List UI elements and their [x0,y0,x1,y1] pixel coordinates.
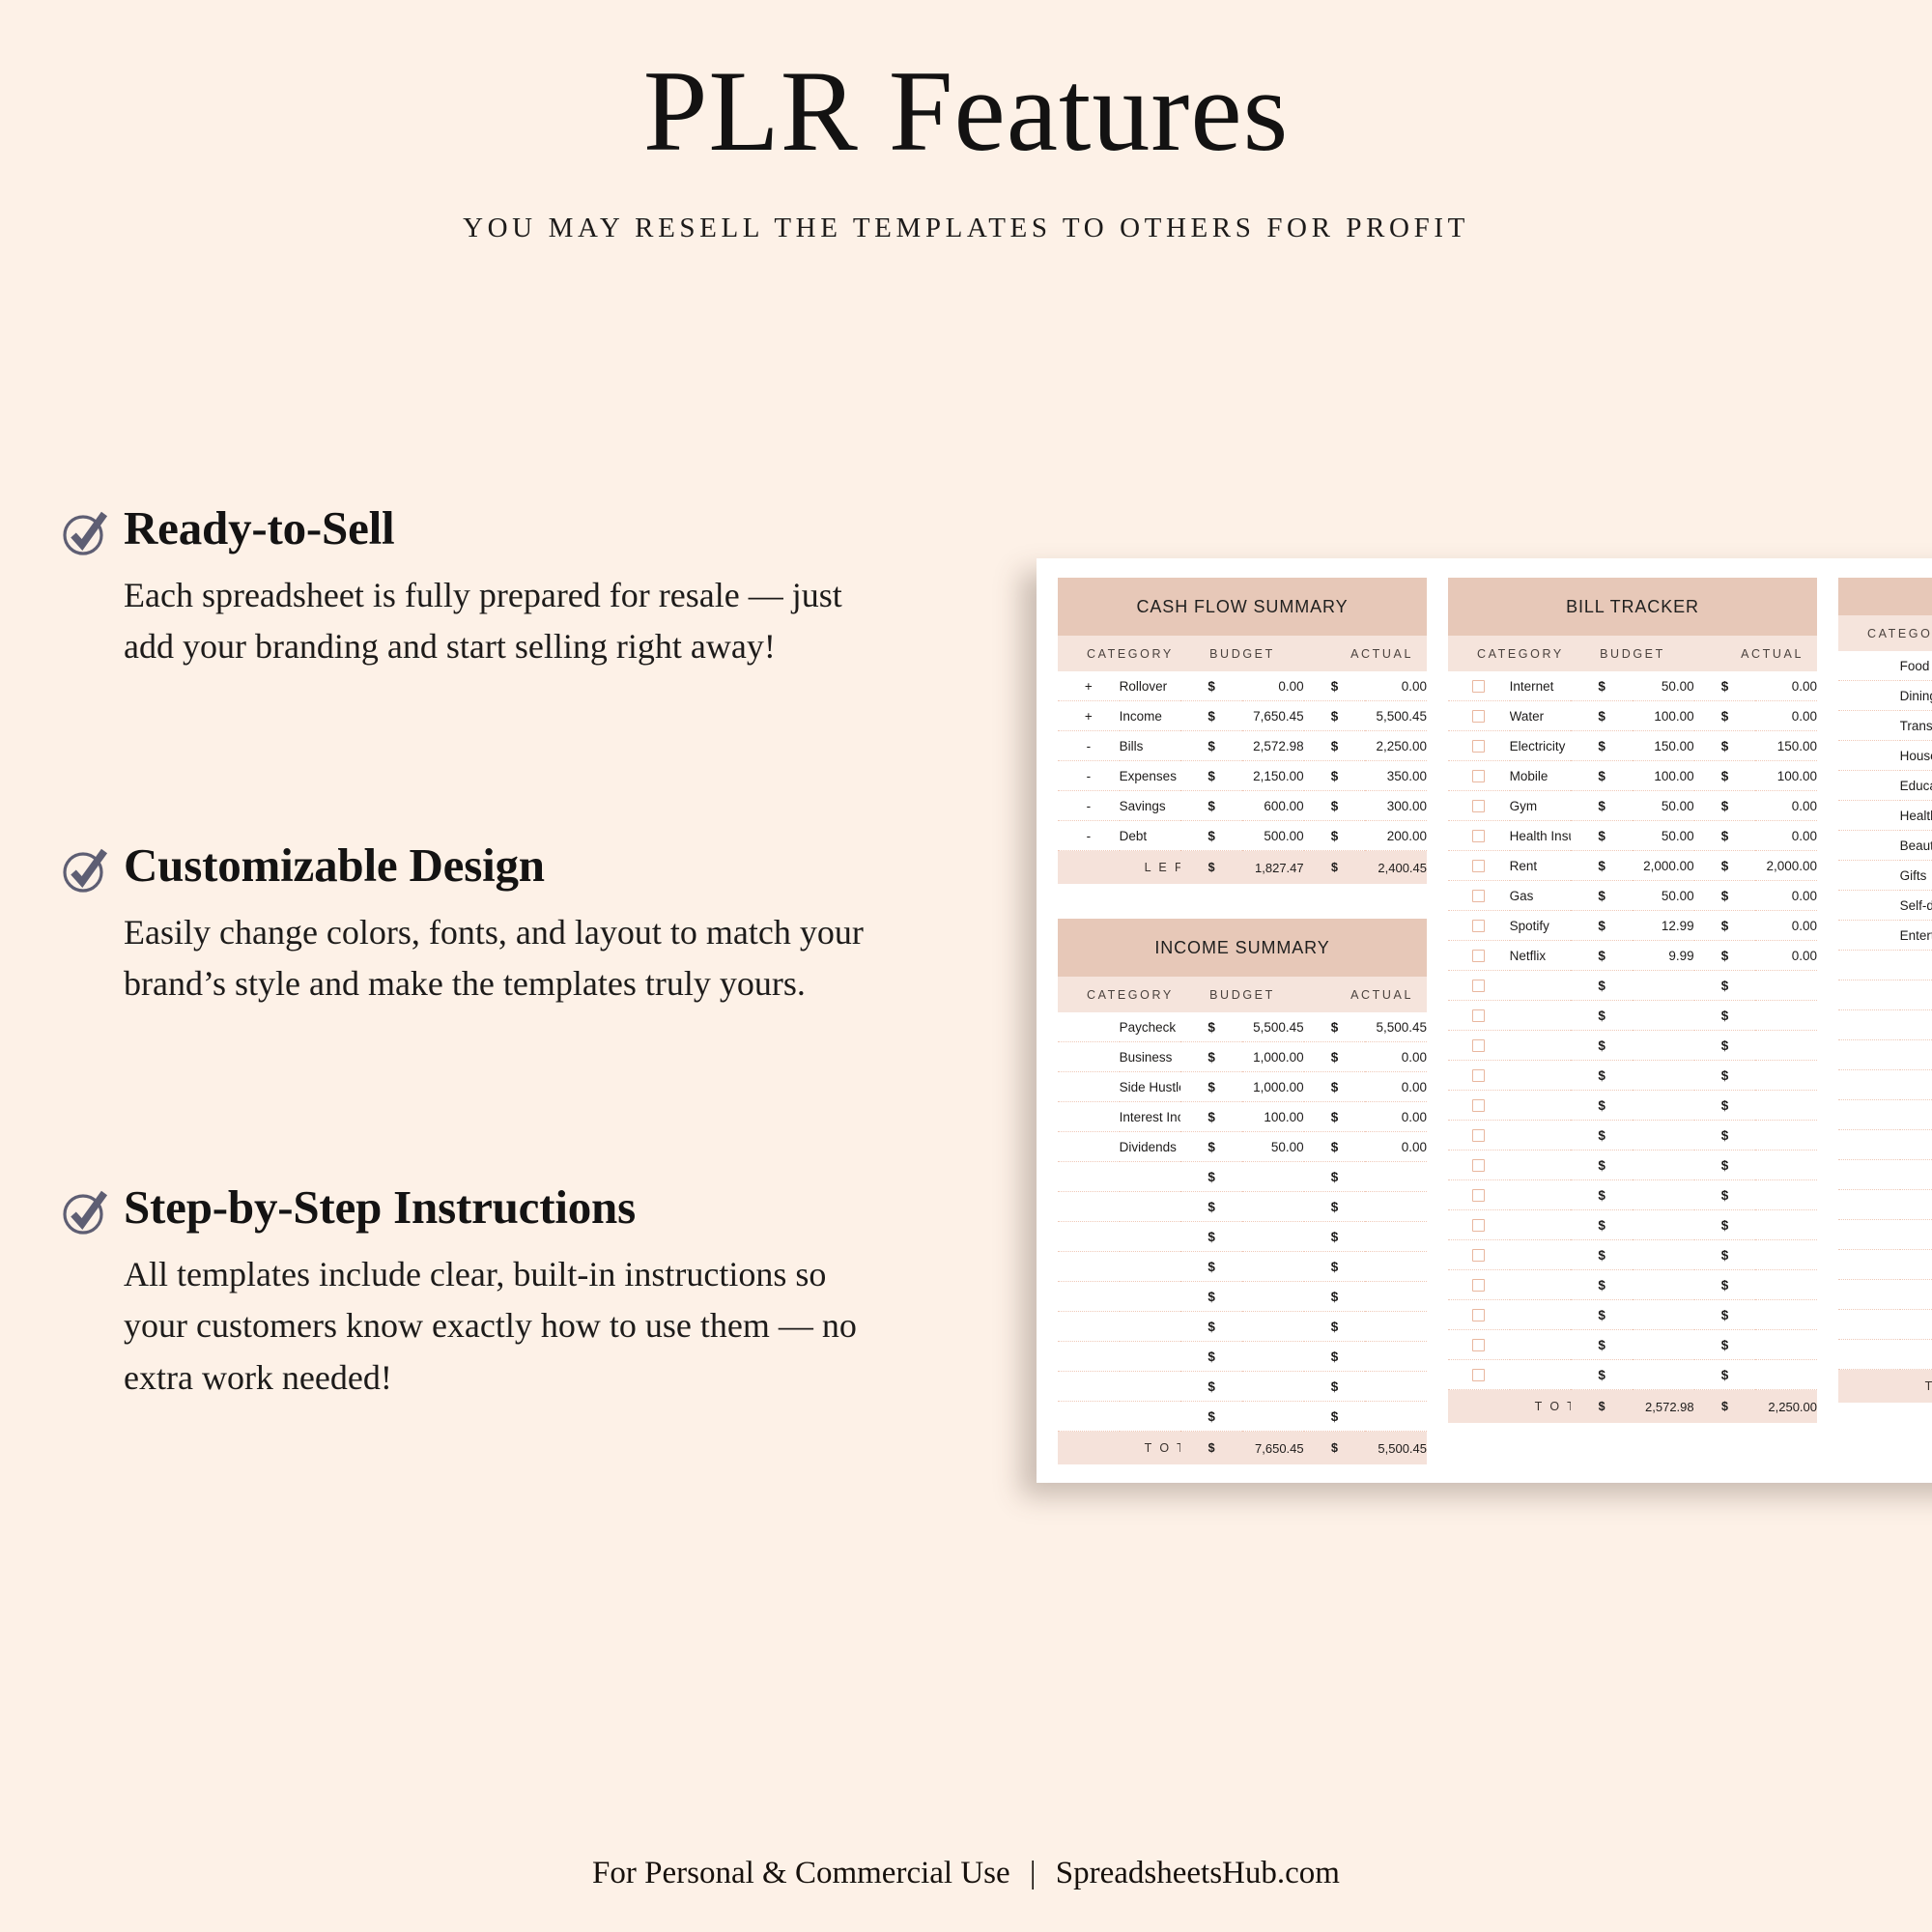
budget-currency-symbol: $ [1180,1162,1242,1192]
budget-value[interactable] [1633,1300,1694,1330]
actual-value[interactable] [1365,1162,1427,1192]
budget-currency-symbol: $ [1180,1072,1242,1102]
actual-value[interactable]: 300.00 [1365,791,1427,821]
row-category-label[interactable] [1120,1402,1181,1432]
row-category-label[interactable]: Rollover [1120,671,1181,701]
budget-value[interactable]: 2,150.00 [1242,761,1304,791]
row-category-label[interactable] [1510,1151,1572,1180]
budget-value[interactable]: 50.00 [1633,821,1694,851]
checkbox-icon[interactable] [1472,1099,1485,1112]
row-sign: - [1058,821,1120,851]
row-spacer [1838,1220,1900,1250]
actual-currency-symbol: $ [1304,1402,1366,1432]
row-category-label[interactable] [1120,1342,1181,1372]
budget-value[interactable]: 150.00 [1633,731,1694,761]
table-row: $$ [1838,1160,1932,1190]
column-header-category: CATEGORY [1058,977,1180,1012]
row-checkbox[interactable] [1448,1360,1510,1390]
budget-value[interactable] [1633,1061,1694,1091]
row-sign: - [1058,761,1120,791]
budget-currency-symbol: $ [1180,1342,1242,1372]
actual-value[interactable] [1365,1342,1427,1372]
actual-currency-symbol: $ [1304,731,1366,761]
row-spacer [1058,1372,1120,1402]
checkbox-icon[interactable] [1472,1009,1485,1022]
actual-value[interactable]: 0.00 [1365,1042,1427,1072]
budget-value[interactable]: 600.00 [1242,791,1304,821]
budget-currency-symbol: $ [1180,671,1242,701]
budget-currency-symbol: $ [1571,701,1633,731]
row-category-label[interactable]: Bills [1120,731,1181,761]
column-header-budget: BUDGET [1180,977,1303,1012]
row-category-label[interactable] [1900,1040,1932,1070]
checkbox-icon[interactable] [1472,920,1485,932]
table-row: $$ [1058,1342,1427,1372]
actual-currency-symbol: $ [1694,881,1756,911]
row-spacer [1838,771,1900,801]
row-category-label[interactable] [1900,1130,1932,1160]
budget-value[interactable]: 0.00 [1242,671,1304,701]
budget-currency-symbol: $ [1180,701,1242,731]
budget-currency-symbol: $ [1571,671,1633,701]
actual-value[interactable] [1755,1001,1817,1031]
checkbox-icon[interactable] [1472,860,1485,872]
row-checkbox[interactable] [1448,1270,1510,1300]
row-spacer [1058,1192,1120,1222]
row-category-label[interactable] [1510,1360,1572,1390]
actual-value[interactable] [1365,1372,1427,1402]
budget-value[interactable] [1242,1372,1304,1402]
row-category-label[interactable]: Savings [1120,791,1181,821]
actual-value[interactable]: 0.00 [1755,701,1817,731]
table-row: $$ [1838,1340,1932,1370]
actual-value[interactable]: 2,250.00 [1365,731,1427,761]
row-spacer [1838,681,1900,711]
checkbox-icon[interactable] [1472,770,1485,782]
row-category-label[interactable]: Health [1900,801,1932,831]
row-checkbox[interactable] [1448,821,1510,851]
budget-value[interactable]: 50.00 [1633,671,1694,701]
budget-value[interactable]: 5,500.45 [1242,1012,1304,1042]
budget-value[interactable] [1633,1031,1694,1061]
budget-value[interactable]: 2,572.98 [1242,731,1304,761]
feature-item-step-by-step-instructions: Step-by-Step Instructions All templates … [60,1181,876,1404]
table-row: $$ [1838,1310,1932,1340]
actual-value[interactable] [1365,1252,1427,1282]
row-category-label[interactable]: Dining Out [1900,681,1932,711]
checkbox-icon[interactable] [1472,1129,1485,1142]
row-category-label[interactable] [1510,1270,1572,1300]
row-category-label[interactable] [1120,1312,1181,1342]
row-category-label[interactable] [1900,1100,1932,1130]
row-category-label[interactable]: Dividends [1120,1132,1181,1162]
budget-value[interactable]: 12.99 [1633,911,1694,941]
actual-currency-symbol: $ [1694,1031,1756,1061]
actual-value[interactable] [1755,1300,1817,1330]
actual-currency-symbol: $ [1694,1061,1756,1091]
actual-value[interactable] [1755,1180,1817,1210]
feature-item-customizable-design: Customizable Design Easily change colors… [60,839,876,1010]
row-category-label[interactable]: Gas [1510,881,1572,911]
total-actual-currency-symbol: $ [1304,851,1366,885]
actual-value[interactable]: 0.00 [1755,881,1817,911]
features-list: Ready-to-Sell Each spreadsheet is fully … [60,502,876,1404]
row-category-label[interactable] [1510,1330,1572,1360]
row-category-label[interactable] [1900,1220,1932,1250]
row-category-label[interactable]: Internet [1510,671,1572,701]
checkbox-icon[interactable] [1472,1249,1485,1262]
table-title: CASH FLOW SUMMARY [1058,578,1427,636]
row-category-label[interactable]: Business [1120,1042,1181,1072]
row-category-label[interactable] [1120,1372,1181,1402]
budget-value[interactable] [1633,1180,1694,1210]
row-spacer [1838,921,1900,951]
row-category-label[interactable] [1510,1091,1572,1121]
budget-value[interactable] [1242,1342,1304,1372]
row-checkbox[interactable] [1448,731,1510,761]
actual-value[interactable] [1755,1061,1817,1091]
budget-value[interactable] [1242,1192,1304,1222]
actual-currency-symbol: $ [1694,1180,1756,1210]
row-category-label[interactable]: Gym [1510,791,1572,821]
budget-value[interactable] [1633,1121,1694,1151]
actual-value[interactable] [1755,1151,1817,1180]
budget-value[interactable] [1633,1240,1694,1270]
checkbox-icon[interactable] [1472,1339,1485,1351]
budget-value[interactable] [1242,1402,1304,1432]
table-total-row: L E F T$1,827.47$2,400.45 [1058,851,1427,885]
row-category-label[interactable] [1900,1190,1932,1220]
budget-value[interactable] [1633,1001,1694,1031]
checkbox-icon[interactable] [1472,1189,1485,1202]
footer-separator: | [1018,1856,1048,1890]
actual-currency-symbol: $ [1694,1360,1756,1390]
budget-value[interactable] [1242,1252,1304,1282]
checkbox-icon[interactable] [1472,740,1485,753]
budget-value[interactable] [1633,1151,1694,1180]
table-row: Health Insurance$50.00$0.00 [1448,821,1817,851]
budget-currency-symbol: $ [1571,1330,1633,1360]
checkbox-icon[interactable] [1472,1309,1485,1321]
total-budget-currency-symbol: $ [1571,1390,1633,1424]
budget-currency-symbol: $ [1571,1151,1633,1180]
checkbox-icon[interactable] [1472,830,1485,842]
row-category-label[interactable] [1510,1300,1572,1330]
row-category-label[interactable] [1120,1192,1181,1222]
row-category-label[interactable] [1900,1160,1932,1190]
budget-value[interactable]: 7,650.45 [1242,701,1304,731]
table-row: Gym$50.00$0.00 [1448,791,1817,821]
table-row: -Debt$500.00$200.00 [1058,821,1427,851]
checkbox-icon[interactable] [1472,1219,1485,1232]
table-header-row: CATEGORYBUDGETACTUAL [1838,615,1932,651]
table-row: $$ [1838,1250,1932,1280]
budget-value[interactable] [1633,971,1694,1001]
row-checkbox[interactable] [1448,1001,1510,1031]
row-category-label[interactable] [1120,1282,1181,1312]
row-category-label[interactable]: Income [1120,701,1181,731]
actual-value[interactable]: 0.00 [1755,671,1817,701]
row-category-label[interactable] [1120,1222,1181,1252]
total-actual-value: 5,500.45 [1365,1432,1427,1465]
row-category-label[interactable]: Expenses [1120,761,1181,791]
actual-value[interactable] [1755,1121,1817,1151]
budget-value[interactable] [1633,1360,1694,1390]
budget-currency-symbol: $ [1571,1300,1633,1330]
row-checkbox[interactable] [1448,1240,1510,1270]
budget-currency-symbol: $ [1180,1012,1242,1042]
actual-currency-symbol: $ [1694,791,1756,821]
actual-value[interactable]: 0.00 [1755,791,1817,821]
row-spacer [1838,651,1900,681]
page-subtitle: YOU MAY RESELL THE TEMPLATES TO OTHERS F… [0,213,1932,244]
actual-value[interactable]: 0.00 [1365,1102,1427,1132]
budget-value[interactable]: 2,000.00 [1633,851,1694,881]
total-actual-currency-symbol: $ [1694,1390,1756,1424]
table-row: $$ [1448,1240,1817,1270]
row-checkbox[interactable] [1448,1061,1510,1091]
actual-currency-symbol: $ [1304,1342,1366,1372]
row-checkbox[interactable] [1448,851,1510,881]
actual-value[interactable]: 150.00 [1755,731,1817,761]
table-row: Side Hustle$1,000.00$0.00 [1058,1072,1427,1102]
actual-currency-symbol: $ [1304,791,1366,821]
checkbox-icon[interactable] [1472,800,1485,812]
checkbox-icon[interactable] [1472,1369,1485,1381]
row-category-label[interactable] [1900,1010,1932,1040]
checkbox-icon[interactable] [1472,1279,1485,1292]
budget-currency-symbol: $ [1571,881,1633,911]
actual-currency-symbol: $ [1694,731,1756,761]
budget-value[interactable] [1242,1222,1304,1252]
actual-value[interactable] [1365,1222,1427,1252]
row-checkbox[interactable] [1448,911,1510,941]
table-row: Transportation$$ [1838,711,1932,741]
budget-value[interactable]: 100.00 [1242,1102,1304,1132]
row-checkbox[interactable] [1448,791,1510,821]
row-category-label[interactable] [1510,1031,1572,1061]
row-category-label[interactable] [1510,1180,1572,1210]
total-actual-currency-symbol: $ [1304,1432,1366,1465]
checkbox-icon[interactable] [1472,710,1485,723]
actual-currency-symbol: $ [1304,1372,1366,1402]
actual-value[interactable]: 0.00 [1365,1072,1427,1102]
row-category-label[interactable]: Food [1900,651,1932,681]
row-category-label[interactable]: Household [1900,741,1932,771]
table-row: $$ [1838,1190,1932,1220]
row-spacer [1838,1160,1900,1190]
actual-value[interactable]: 0.00 [1365,1132,1427,1162]
row-spacer [1838,1070,1900,1100]
budget-value[interactable]: 500.00 [1242,821,1304,851]
row-category-label[interactable]: Self-development [1900,891,1932,921]
row-checkbox[interactable] [1448,1210,1510,1240]
checkbox-icon[interactable] [1472,1159,1485,1172]
row-category-label[interactable]: Education [1900,771,1932,801]
row-category-label[interactable]: Entertainment [1900,921,1932,951]
budget-currency-symbol: $ [1180,1252,1242,1282]
actual-value[interactable] [1755,1240,1817,1270]
budget-value[interactable] [1633,1210,1694,1240]
row-checkbox[interactable] [1448,941,1510,971]
row-checkbox[interactable] [1448,701,1510,731]
row-checkbox[interactable] [1448,761,1510,791]
budget-value[interactable]: 50.00 [1242,1132,1304,1162]
actual-value[interactable]: 5,500.45 [1365,1012,1427,1042]
footer-site-name: SpreadsheetsHub.com [1056,1856,1340,1890]
row-category-label[interactable]: Side Hustle [1120,1072,1181,1102]
row-category-label[interactable] [1900,1250,1932,1280]
table-title: INCOME SUMMARY [1058,919,1427,977]
actual-value[interactable] [1755,971,1817,1001]
budget-value[interactable] [1242,1282,1304,1312]
actual-value[interactable]: 5,500.45 [1365,701,1427,731]
row-category-label[interactable] [1900,1070,1932,1100]
row-checkbox[interactable] [1448,971,1510,1001]
row-category-label[interactable] [1510,1240,1572,1270]
row-category-label[interactable]: Debt [1120,821,1181,851]
actual-value[interactable] [1755,1091,1817,1121]
row-spacer [1838,741,1900,771]
budget-value[interactable]: 50.00 [1633,791,1694,821]
actual-value[interactable]: 100.00 [1755,761,1817,791]
total-actual-value: 2,400.45 [1365,851,1427,885]
actual-value[interactable]: 0.00 [1755,911,1817,941]
spreadsheet-column-1: CASH FLOW SUMMARYCATEGORYBUDGETACTUAL+Ro… [1058,578,1427,1464]
budget-value[interactable]: 1,000.00 [1242,1042,1304,1072]
actual-value[interactable] [1365,1312,1427,1342]
row-checkbox[interactable] [1448,881,1510,911]
table-row: Education$$ [1838,771,1932,801]
actual-value[interactable] [1755,1330,1817,1360]
checkbox-icon[interactable] [1472,1039,1485,1052]
actual-value[interactable]: 2,000.00 [1755,851,1817,881]
actual-currency-symbol: $ [1694,1210,1756,1240]
checkbox-icon[interactable] [1472,950,1485,962]
actual-currency-symbol: $ [1304,701,1366,731]
checkbox-icon[interactable] [1472,1069,1485,1082]
actual-currency-symbol: $ [1304,1042,1366,1072]
row-checkbox[interactable] [1448,1330,1510,1360]
budget-value[interactable] [1242,1162,1304,1192]
row-category-label[interactable]: Spotify [1510,911,1572,941]
actual-value[interactable] [1755,1360,1817,1390]
budget-value[interactable]: 9.99 [1633,941,1694,971]
row-spacer [1838,1010,1900,1040]
total-budget-value: 2,572.98 [1633,1390,1694,1424]
budget-value[interactable] [1242,1312,1304,1342]
row-category-label[interactable]: Netflix [1510,941,1572,971]
row-category-label[interactable]: Rent [1510,851,1572,881]
row-category-label[interactable] [1510,1121,1572,1151]
row-category-label[interactable] [1510,1061,1572,1091]
row-category-label[interactable] [1510,971,1572,1001]
actual-value[interactable] [1365,1402,1427,1432]
actual-currency-symbol: $ [1304,1222,1366,1252]
budget-currency-symbol: $ [1571,941,1633,971]
table-total-row: T O T A L$$ [1838,1370,1932,1404]
row-category-label[interactable]: Electricity [1510,731,1572,761]
row-category-label[interactable] [1900,980,1932,1010]
row-category-label[interactable]: Beauty [1900,831,1932,861]
row-category-label[interactable]: Mobile [1510,761,1572,791]
actual-value[interactable] [1755,1270,1817,1300]
table-row: $$ [1448,1121,1817,1151]
checkbox-icon[interactable] [1472,980,1485,992]
checkbox-icon[interactable] [1472,890,1485,902]
row-checkbox[interactable] [1448,1300,1510,1330]
table-row: $$ [1448,1031,1817,1061]
budget-value[interactable]: 100.00 [1633,761,1694,791]
row-checkbox[interactable] [1448,671,1510,701]
actual-value[interactable]: 0.00 [1365,671,1427,701]
actual-currency-symbol: $ [1694,1270,1756,1300]
row-category-label[interactable]: Interest Income [1120,1102,1181,1132]
row-spacer [1838,861,1900,891]
total-label: T O T A L [1120,1432,1181,1465]
actual-value[interactable]: 350.00 [1365,761,1427,791]
actual-value[interactable]: 0.00 [1755,821,1817,851]
actual-currency-symbol: $ [1694,1240,1756,1270]
budget-value[interactable]: 100.00 [1633,701,1694,731]
row-checkbox[interactable] [1448,1151,1510,1180]
row-checkbox[interactable] [1448,1031,1510,1061]
actual-value[interactable]: 200.00 [1365,821,1427,851]
actual-currency-symbol: $ [1304,1012,1366,1042]
actual-value[interactable] [1755,1031,1817,1061]
actual-value[interactable] [1365,1192,1427,1222]
row-spacer [1838,1310,1900,1340]
row-category-label[interactable]: Water [1510,701,1572,731]
total-budget-value: 1,827.47 [1242,851,1304,885]
checkbox-icon[interactable] [1472,680,1485,693]
row-spacer [1838,980,1900,1010]
row-category-label[interactable] [1120,1162,1181,1192]
feature-item-ready-to-sell: Ready-to-Sell Each spreadsheet is fully … [60,502,876,673]
row-checkbox[interactable] [1448,1180,1510,1210]
row-category-label[interactable] [1510,1210,1572,1240]
row-category-label[interactable] [1900,1280,1932,1310]
budget-currency-symbol: $ [1180,1402,1242,1432]
row-category-label[interactable] [1120,1252,1181,1282]
row-checkbox[interactable] [1448,1121,1510,1151]
budget-value[interactable]: 1,000.00 [1242,1072,1304,1102]
row-category-label[interactable]: Paycheck [1120,1012,1181,1042]
actual-value[interactable] [1365,1282,1427,1312]
row-category-label[interactable]: Gifts [1900,861,1932,891]
budget-value[interactable]: 50.00 [1633,881,1694,911]
actual-value[interactable] [1755,1210,1817,1240]
feature-heading-row: Ready-to-Sell [60,502,876,558]
row-category-label[interactable] [1510,1001,1572,1031]
actual-currency-symbol: $ [1694,1091,1756,1121]
row-category-label[interactable] [1900,951,1932,980]
row-category-label[interactable] [1900,1340,1932,1370]
row-sign: + [1058,701,1120,731]
budget-value[interactable] [1633,1091,1694,1121]
table-total-row: T O T A L$7,650.45$5,500.45 [1058,1432,1427,1465]
row-category-label[interactable] [1900,1310,1932,1340]
actual-value[interactable]: 0.00 [1755,941,1817,971]
budget-currency-symbol: $ [1571,1061,1633,1091]
actual-currency-symbol: $ [1694,821,1756,851]
budget-value[interactable] [1633,1270,1694,1300]
row-category-label[interactable]: Health Insurance [1510,821,1572,851]
budget-value[interactable] [1633,1330,1694,1360]
feature-description: All templates include clear, built-in in… [124,1249,876,1404]
row-category-label[interactable]: Transportation [1900,711,1932,741]
row-checkbox[interactable] [1448,1091,1510,1121]
